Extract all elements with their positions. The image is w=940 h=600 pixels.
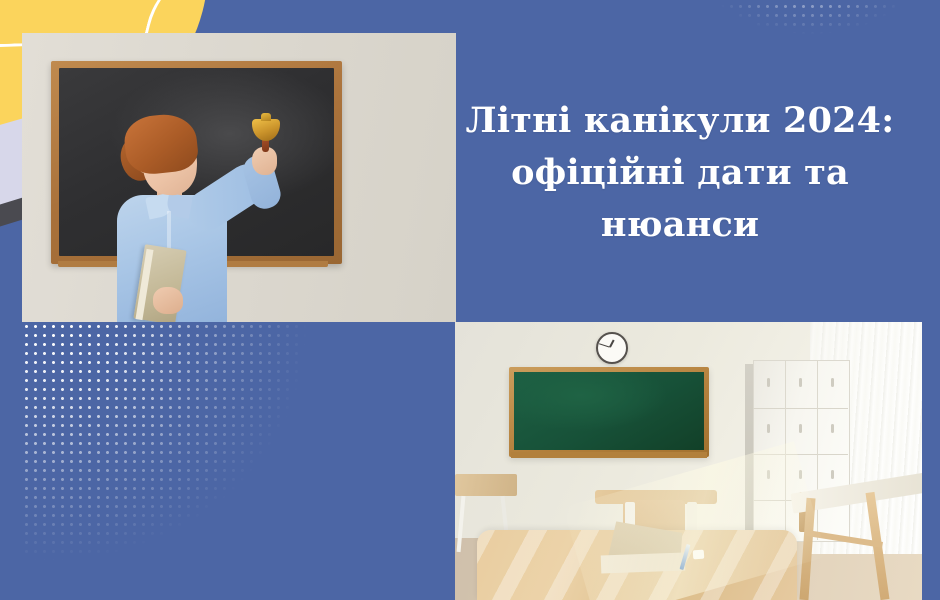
green-chalkboard-surface (514, 372, 704, 450)
locker-handle (831, 378, 834, 387)
page-title: Літні канікули 2024: офіційні дати та ню… (460, 95, 900, 251)
locker-handle (831, 470, 834, 479)
title-line-1: Літні канікули 2024: (460, 95, 900, 147)
title-block: Літні канікули 2024: офіційні дати та ню… (460, 95, 900, 251)
side-desk (455, 474, 517, 496)
locker-handle (799, 378, 802, 387)
photo-boy-with-bell (22, 33, 456, 322)
title-line-3: нюанси (460, 199, 900, 251)
locker-handle (767, 424, 770, 433)
boy-figure (105, 111, 285, 322)
locker-handle (831, 424, 834, 433)
locker-divider (817, 360, 818, 540)
wall-clock-icon (596, 332, 628, 364)
golden-bell (252, 119, 280, 141)
locker-divider (753, 408, 848, 409)
locker-handle (767, 378, 770, 387)
halftone-dots-top (700, 0, 940, 76)
poster-canvas: Літні канікули 2024: офіційні дати та ню… (0, 0, 940, 600)
title-line-2: офіційні дати та (460, 147, 900, 199)
hand-holding-book (153, 287, 183, 314)
locker-handle (799, 424, 802, 433)
bell-top (261, 113, 271, 121)
photo-empty-classroom (455, 322, 922, 600)
red-hair (122, 111, 200, 176)
green-chalkboard-frame (509, 367, 709, 457)
green-chalkboard-ledge (511, 452, 707, 458)
halftone-dots-left (22, 322, 492, 600)
